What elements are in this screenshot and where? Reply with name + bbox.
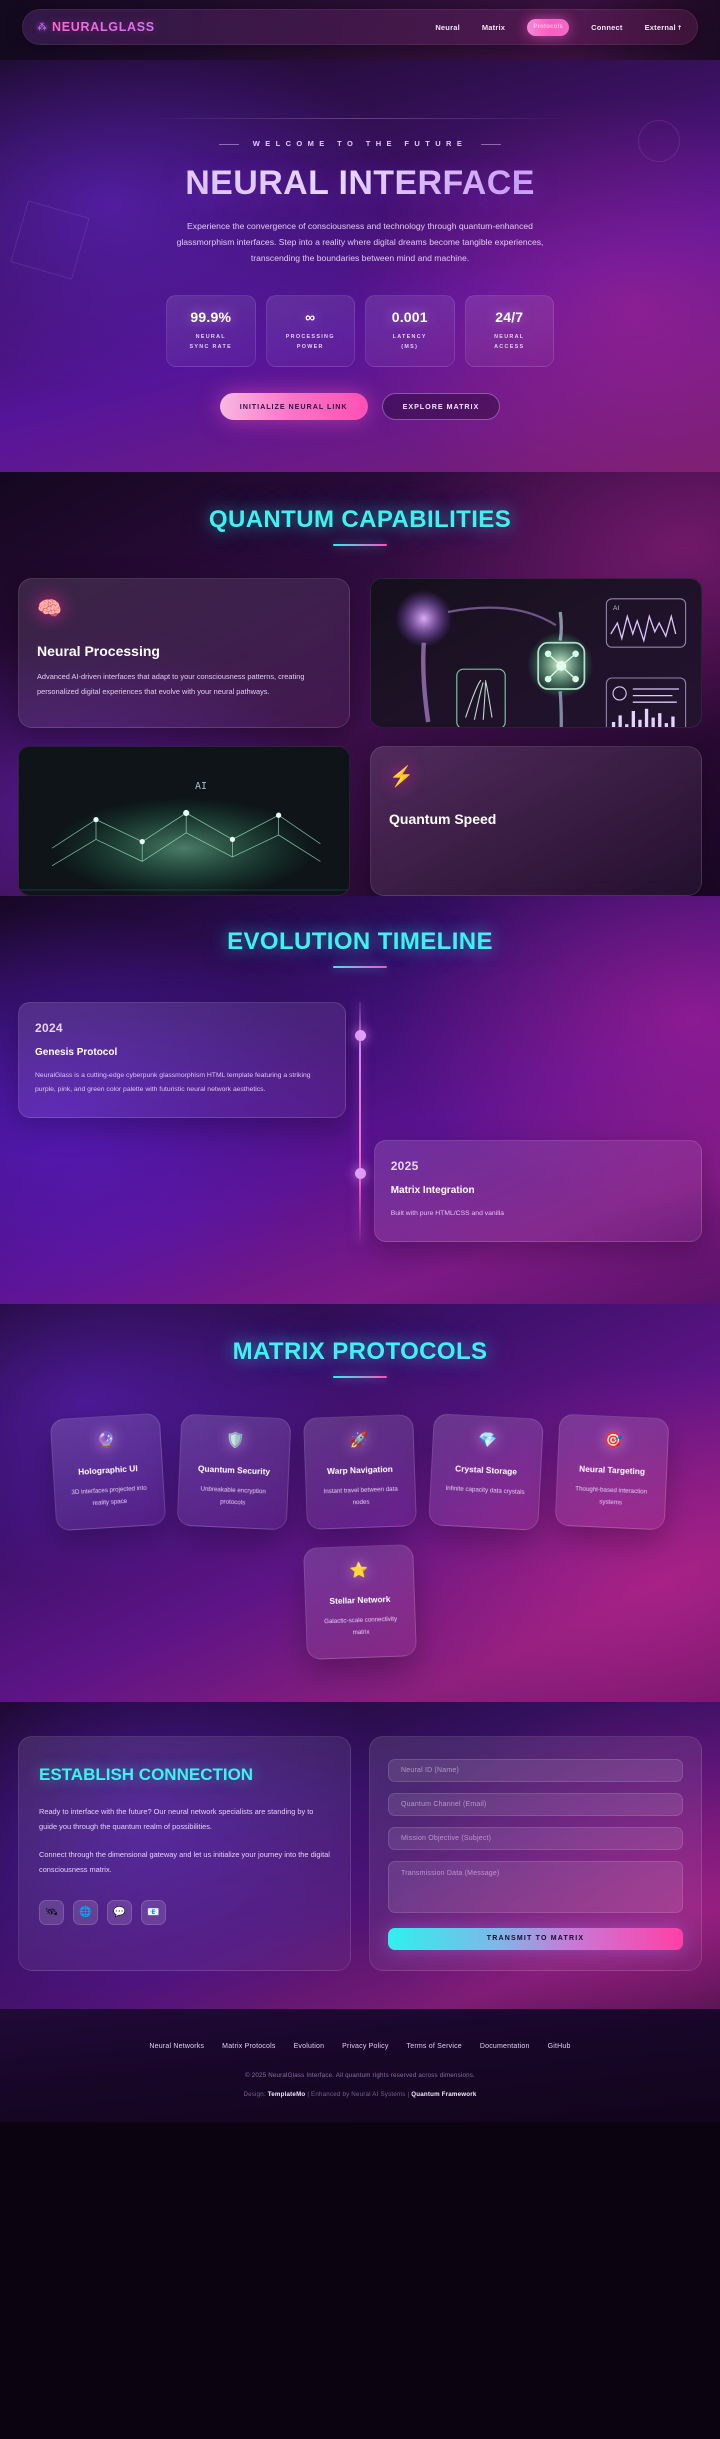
section-underline [333, 544, 387, 546]
timeline-card-2025[interactable]: 2025 Matrix Integration Built with pure … [374, 1140, 702, 1242]
timeline-title: EVOLUTION TIMELINE [0, 928, 720, 956]
rocket-icon: 🚀 [315, 1431, 403, 1449]
credits: Design: TemplateMo | Enhanced by Neural … [20, 2091, 700, 2098]
nav-links: Neural Matrix Protocols Connect External… [435, 19, 683, 36]
footer-link-documentation[interactable]: Documentation [480, 2043, 530, 2050]
ai-grid-svg: AI [19, 747, 349, 896]
globe-icon[interactable]: 🌐 [73, 1900, 98, 1925]
initialize-neural-link-button[interactable]: INITIALIZE NEURAL LINK [220, 393, 368, 420]
timeline-body: Built with pure HTML/CSS and vanilla [391, 1207, 685, 1221]
contact-heading: ESTABLISH CONNECTION [39, 1763, 330, 1787]
navbar: ⁂ NEURALGLASS Neural Matrix Protocols Co… [22, 9, 698, 45]
stat-card: ∞ PROCESSING POWER [266, 295, 356, 368]
protocol-body: Galactic-scale connectivity matrix [316, 1614, 405, 1640]
protocol-body: Thought-based interaction systems [566, 1483, 655, 1510]
timeline-heading: Genesis Protocol [35, 1047, 329, 1058]
network-icon: ⁂ [37, 22, 47, 33]
timeline-dot [355, 1168, 366, 1179]
protocol-body: Instant travel between data nodes [316, 1484, 405, 1510]
chat-icon[interactable]: 💬 [107, 1900, 132, 1925]
target-icon: 🎯 [569, 1431, 658, 1450]
stat-label: NEURAL ACCESS [470, 332, 550, 353]
contact-form-panel: Neural ID (Name) Quantum Channel (Email)… [369, 1736, 702, 1971]
brain-icon: 🧠 [37, 599, 331, 619]
mail-icon[interactable]: 📧 [141, 1900, 166, 1925]
protocol-body: Infinite capacity data crystals [441, 1483, 529, 1499]
name-field[interactable]: Neural ID (Name) [388, 1759, 683, 1782]
capability-card-neural-processing[interactable]: 🧠 Neural Processing Advanced AI-driven i… [18, 578, 350, 728]
timeline-card-2024[interactable]: 2024 Genesis Protocol NeuralGlass is a c… [18, 1002, 346, 1118]
protocols-title: MATRIX PROTOCOLS [0, 1338, 720, 1366]
stat-card: 0.001 LATENCY (MS) [365, 295, 455, 368]
protocol-body: Unbreakable encryption protocols [188, 1483, 277, 1510]
footer-link-github[interactable]: GitHub [548, 2043, 571, 2050]
protocol-card-crystal-storage[interactable]: 💎 Crystal Storage Infinite capacity data… [428, 1413, 544, 1531]
protocols-grid: 🔮 Holographic UI 3D interfaces projected… [0, 1416, 720, 1658]
stat-value: 99.9% [171, 309, 251, 325]
capabilities-section: QUANTUM CAPABILITIES 🧠 Neural Processing… [0, 472, 720, 896]
section-underline [333, 1376, 387, 1378]
navbar-container: ⁂ NEURALGLASS Neural Matrix Protocols Co… [0, 0, 720, 60]
credit-brand[interactable]: TemplateMo [268, 2091, 306, 2098]
neural-svg: AI [371, 579, 701, 728]
protocol-card-quantum-security[interactable]: 🛡️ Quantum Security Unbreakable encrypti… [177, 1414, 292, 1531]
protocol-heading: Neural Targeting [568, 1462, 657, 1479]
contact-section: ESTABLISH CONNECTION Ready to interface … [0, 1702, 720, 2009]
contact-paragraph-1: Ready to interface with the future? Our … [39, 1805, 330, 1835]
nav-link-connect[interactable]: Connect [591, 23, 622, 32]
ai-data-visualization: AI [18, 746, 350, 896]
footer-link-privacy-policy[interactable]: Privacy Policy [342, 2043, 388, 2050]
timeline: 2024 Genesis Protocol NeuralGlass is a c… [0, 1002, 720, 1242]
capability-heading: Quantum Speed [389, 811, 683, 827]
gem-icon: 💎 [443, 1431, 532, 1451]
nav-link-neural[interactable]: Neural [435, 23, 460, 32]
protocol-card-holographic-ui[interactable]: 🔮 Holographic UI 3D interfaces projected… [50, 1413, 167, 1532]
stat-label: PROCESSING POWER [271, 332, 351, 353]
credit-middle: | Enhanced by Neural AI Systems | [305, 2091, 411, 2098]
stat-value: 24/7 [470, 309, 550, 325]
eyebrow-dash-left [219, 144, 239, 145]
section-underline [333, 966, 387, 968]
svg-text:AI: AI [613, 605, 619, 612]
hero-eyebrow-text: WELCOME TO THE FUTURE [253, 139, 468, 148]
nav-link-matrix[interactable]: Matrix [482, 23, 505, 32]
timeline-year: 2025 [391, 1159, 685, 1173]
capabilities-grid: 🧠 Neural Processing Advanced AI-driven i… [0, 578, 720, 896]
timeline-heading: Matrix Integration [391, 1185, 685, 1196]
nav-link-external[interactable]: External↗ [645, 23, 683, 32]
footer-link-neural-networks[interactable]: Neural Networks [149, 2043, 204, 2050]
stat-card: 99.9% NEURAL SYNC RATE [166, 295, 256, 368]
hero-section: WELCOME TO THE FUTURE NEURAL INTERFACE E… [0, 60, 720, 472]
protocol-card-stellar-network[interactable]: ⭐ Stellar Network Galactic-scale connect… [303, 1544, 417, 1660]
credit-framework: Quantum Framework [411, 2091, 476, 2098]
stat-label: NEURAL SYNC RATE [171, 332, 251, 353]
contact-info-panel: ESTABLISH CONNECTION Ready to interface … [18, 1736, 351, 1971]
shield-icon: 🛡️ [191, 1431, 280, 1450]
footer: Neural Networks Matrix Protocols Evoluti… [0, 2009, 720, 2122]
hero-stats: 99.9% NEURAL SYNC RATE ∞ PROCESSING POWE… [166, 295, 554, 368]
contact-paragraph-2: Connect through the dimensional gateway … [39, 1848, 330, 1878]
capabilities-title: QUANTUM CAPABILITIES [0, 506, 720, 534]
timeline-section: EVOLUTION TIMELINE 2024 Genesis Protocol… [0, 896, 720, 1304]
svg-text:AI: AI [195, 781, 207, 792]
stat-value: ∞ [271, 309, 351, 325]
footer-link-matrix-protocols[interactable]: Matrix Protocols [222, 2043, 275, 2050]
social-links: 🛰 🌐 💬 📧 [39, 1900, 330, 1925]
crystal-ball-icon: 🔮 [62, 1430, 151, 1450]
brand-name: NEURALGLASS [52, 20, 155, 34]
protocol-body: 3D interfaces projected into reality spa… [65, 1483, 154, 1511]
protocol-heading: Holographic UI [64, 1461, 153, 1480]
message-field[interactable]: Transmission Data (Message) [388, 1861, 683, 1913]
eyebrow-dash-right [481, 144, 501, 145]
star-icon: ⭐ [315, 1561, 403, 1579]
external-link-icon: ↗ [675, 23, 684, 32]
brand[interactable]: ⁂ NEURALGLASS [37, 20, 155, 34]
protocol-heading: Crystal Storage [442, 1462, 531, 1480]
hero-cta-row: INITIALIZE NEURAL LINK EXPLORE MATRIX [0, 393, 720, 420]
capability-body: Advanced AI-driven interfaces that adapt… [37, 670, 331, 699]
timeline-year: 2024 [35, 1021, 329, 1035]
satellite-icon[interactable]: 🛰 [39, 1900, 64, 1925]
timeline-row: 2024 Genesis Protocol NeuralGlass is a c… [18, 1002, 702, 1118]
subject-field[interactable]: Mission Objective (Subject) [388, 1827, 683, 1850]
protocols-section: MATRIX PROTOCOLS 🔮 Holographic UI 3D int… [0, 1304, 720, 1702]
footer-link-terms-of-service[interactable]: Terms of Service [407, 2043, 462, 2050]
footer-links: Neural Networks Matrix Protocols Evoluti… [20, 2043, 700, 2050]
capability-heading: Neural Processing [37, 643, 331, 659]
stat-value: 0.001 [370, 309, 450, 325]
protocol-heading: Stellar Network [316, 1592, 404, 1609]
stat-card: 24/7 NEURAL ACCESS [465, 295, 555, 368]
hero-eyebrow: WELCOME TO THE FUTURE [219, 139, 502, 148]
capability-card-quantum-speed[interactable]: ⚡ Quantum Speed [370, 746, 702, 896]
stat-label: LATENCY (MS) [370, 332, 450, 353]
transmit-to-matrix-button[interactable]: TRANSMIT TO MATRIX [388, 1928, 683, 1950]
nav-external-label: External [645, 23, 676, 32]
email-field[interactable]: Quantum Channel (Email) [388, 1793, 683, 1816]
copyright: © 2025 NeuralGlass Interface. All quantu… [20, 2072, 700, 2079]
protocol-heading: Warp Navigation [316, 1462, 404, 1479]
timeline-body: NeuralGlass is a cutting-edge cyberpunk … [35, 1069, 329, 1097]
explore-matrix-button[interactable]: EXPLORE MATRIX [382, 393, 501, 420]
protocol-heading: Quantum Security [190, 1462, 279, 1479]
nav-protocols-button[interactable]: Protocols [527, 19, 569, 36]
lightning-bolt-icon: ⚡ [389, 767, 683, 787]
timeline-dot [355, 1030, 366, 1041]
hero-title: NEURAL INTERFACE [0, 164, 720, 203]
timeline-row: 2025 Matrix Integration Built with pure … [18, 1140, 702, 1242]
neural-network-visualization: AI [370, 578, 702, 728]
protocol-card-warp-navigation[interactable]: 🚀 Warp Navigation Instant travel between… [303, 1414, 417, 1530]
footer-link-evolution[interactable]: Evolution [294, 2043, 325, 2050]
hero-divider [145, 118, 575, 119]
hero-subtitle: Experience the convergence of consciousn… [160, 219, 560, 267]
protocol-card-neural-targeting[interactable]: 🎯 Neural Targeting Thought-based interac… [555, 1414, 670, 1531]
credit-prefix: Design: [243, 2091, 267, 2098]
